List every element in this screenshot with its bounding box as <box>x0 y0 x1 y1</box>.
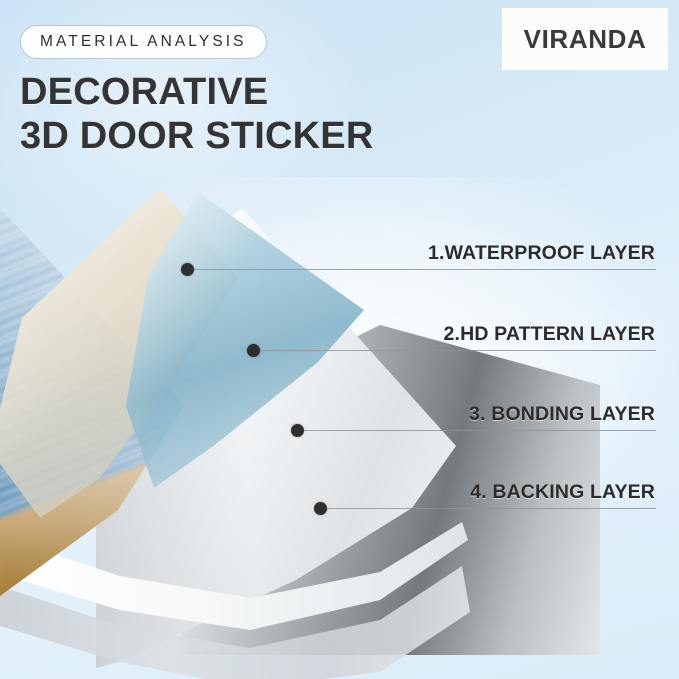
callout-label-1: 1.WATERPROOF LAYER <box>428 242 655 265</box>
callout-label-3: 3. BONDING LAYER <box>469 403 655 426</box>
callout-dot-3 <box>291 424 304 437</box>
callout-label-4: 4. BACKING LAYER <box>470 481 655 504</box>
page-title-line-1: DECORATIVE <box>20 70 373 114</box>
infographic-canvas: MATERIAL ANALYSIS DECORATIVE 3D DOOR STI… <box>0 0 679 679</box>
callout-line-2 <box>260 350 656 351</box>
brand-logo-box: VIRANDA <box>502 8 668 70</box>
callout-label-2: 2.HD PATTERN LAYER <box>444 323 655 346</box>
callout-line-4 <box>327 508 656 509</box>
sticker-illustration <box>0 150 520 679</box>
callout-line-3 <box>304 430 656 431</box>
callout-dot-4 <box>314 502 327 515</box>
callout-dot-1 <box>181 263 194 276</box>
brand-logo-text: VIRANDA <box>524 24 647 55</box>
badge-label: MATERIAL ANALYSIS <box>40 33 247 51</box>
page-title: DECORATIVE 3D DOOR STICKER <box>20 70 373 158</box>
callout-dot-2 <box>247 344 260 357</box>
callout-line-1 <box>194 269 656 270</box>
material-analysis-badge: MATERIAL ANALYSIS <box>20 25 267 59</box>
